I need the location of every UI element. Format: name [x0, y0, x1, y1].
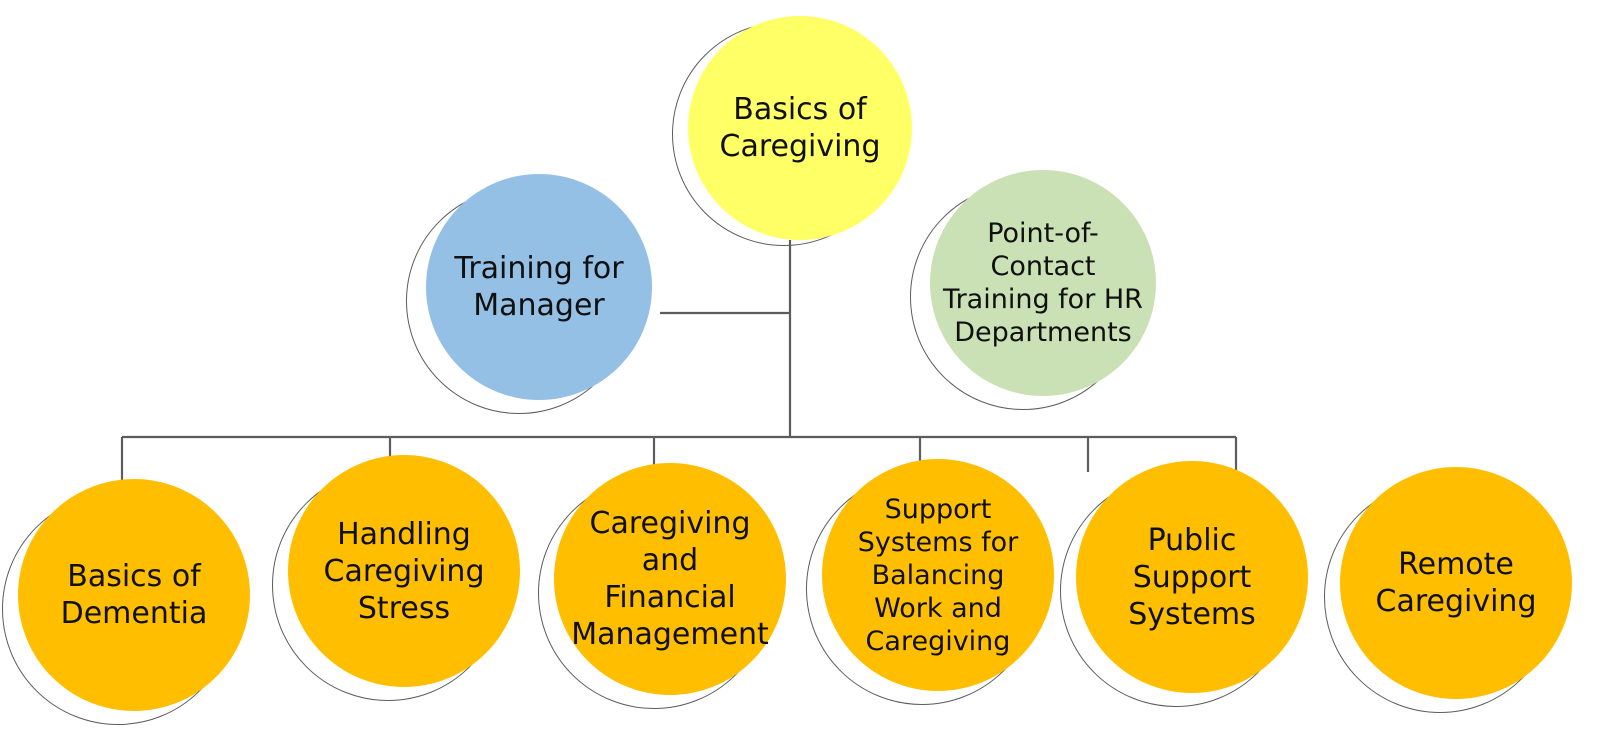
- node-label: Remote Caregiving: [1372, 546, 1541, 620]
- node-support-systems-for-balancing-work-and-caregiving[interactable]: Support Systems for Balancing Work and C…: [806, 459, 1054, 713]
- node-training-for-manager[interactable]: Training for Manager: [406, 174, 662, 414]
- node-basics-of-dementia[interactable]: Basics of Dementia: [2, 479, 250, 733]
- diagram-canvas: Basics of Caregiving Training for Manage…: [0, 0, 1600, 733]
- node-label: Caregiving and Financial Management: [567, 505, 773, 653]
- node-point-of-contact-training-for-hr-departments[interactable]: Point-of- Contact Training for HR Depart…: [910, 170, 1172, 410]
- node-label: Handling Caregiving Stress: [320, 516, 489, 627]
- node-body[interactable]: Basics of Caregiving: [688, 16, 912, 240]
- node-body[interactable]: Caregiving and Financial Management: [554, 463, 786, 695]
- node-body[interactable]: Public Support Systems: [1076, 461, 1308, 693]
- node-body[interactable]: Support Systems for Balancing Work and C…: [822, 459, 1054, 691]
- node-basics-of-caregiving[interactable]: Basics of Caregiving: [672, 16, 912, 256]
- node-label: Basics of Dementia: [57, 558, 212, 632]
- node-label: Support Systems for Balancing Work and C…: [854, 493, 1022, 658]
- node-label: Public Support Systems: [1124, 522, 1260, 633]
- node-body[interactable]: Basics of Dementia: [18, 479, 250, 711]
- node-caregiving-and-financial-management[interactable]: Caregiving and Financial Management: [538, 463, 786, 717]
- node-remote-caregiving[interactable]: Remote Caregiving: [1324, 467, 1572, 721]
- node-handling-caregiving-stress[interactable]: Handling Caregiving Stress: [272, 455, 520, 709]
- node-body[interactable]: Training for Manager: [426, 174, 652, 400]
- node-body[interactable]: Handling Caregiving Stress: [288, 455, 520, 687]
- node-public-support-systems[interactable]: Public Support Systems: [1060, 461, 1308, 715]
- node-body[interactable]: Remote Caregiving: [1340, 467, 1572, 699]
- node-label: Point-of- Contact Training for HR Depart…: [939, 217, 1147, 349]
- node-body[interactable]: Point-of- Contact Training for HR Depart…: [930, 170, 1156, 396]
- node-label: Training for Manager: [450, 250, 627, 324]
- node-label: Basics of Caregiving: [716, 91, 885, 165]
